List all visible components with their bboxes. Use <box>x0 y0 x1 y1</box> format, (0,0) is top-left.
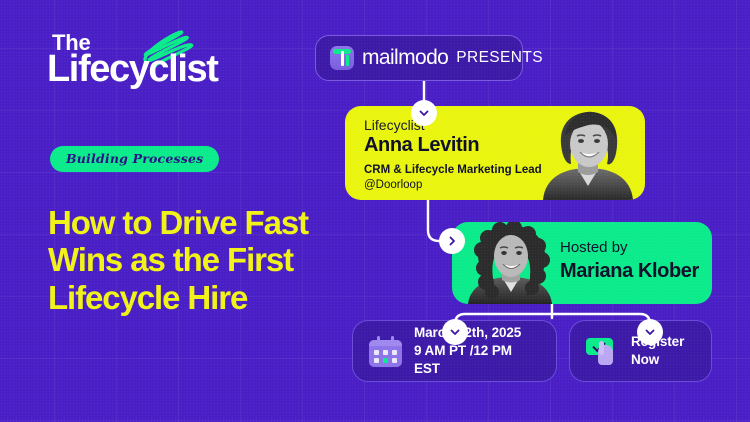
time-line: 9 AM PT /12 PM EST <box>414 342 540 378</box>
speaker-role: Lifecyclist <box>364 118 554 133</box>
host-card: Hosted by Mariana Klober <box>452 222 712 304</box>
mailmodo-logo-icon <box>330 46 354 70</box>
speaker-name: Anna Levitin <box>364 134 554 157</box>
date-line: March 12th, 2025 <box>414 324 540 342</box>
speaker-photo <box>533 106 643 200</box>
speaker-company: @Doorloop <box>364 179 422 191</box>
host-photo <box>462 222 560 304</box>
date-text: March 12th, 2025 9 AM PT /12 PM EST <box>414 324 540 379</box>
webinar-promo-canvas: The Lifecyclist Building Processes How t… <box>0 0 750 422</box>
node-chevron-down-speaker <box>411 100 437 126</box>
speaker-title-bold: CRM & Lifecycle Marketing Lead <box>364 164 542 176</box>
mailmodo-wordmark: mailmodo <box>362 46 448 70</box>
node-chevron-right-host <box>439 228 465 254</box>
host-label: Hosted by <box>560 240 699 257</box>
node-chevron-down-register <box>637 319 663 345</box>
presents-label: PRESENTS <box>456 49 543 67</box>
presenter-pill: mailmodo PRESENTS <box>315 35 523 81</box>
host-name: Mariana Klober <box>560 259 699 283</box>
node-chevron-down-date <box>442 319 468 345</box>
speaker-card: Lifecyclist Anna Levitin CRM & Lifecycle… <box>345 106 645 200</box>
speaker-title: CRM & Lifecycle Marketing Lead @Doorloop <box>364 163 554 192</box>
calendar-icon <box>369 336 402 367</box>
click-check-icon <box>586 336 619 366</box>
register-line2: Now <box>631 351 684 369</box>
